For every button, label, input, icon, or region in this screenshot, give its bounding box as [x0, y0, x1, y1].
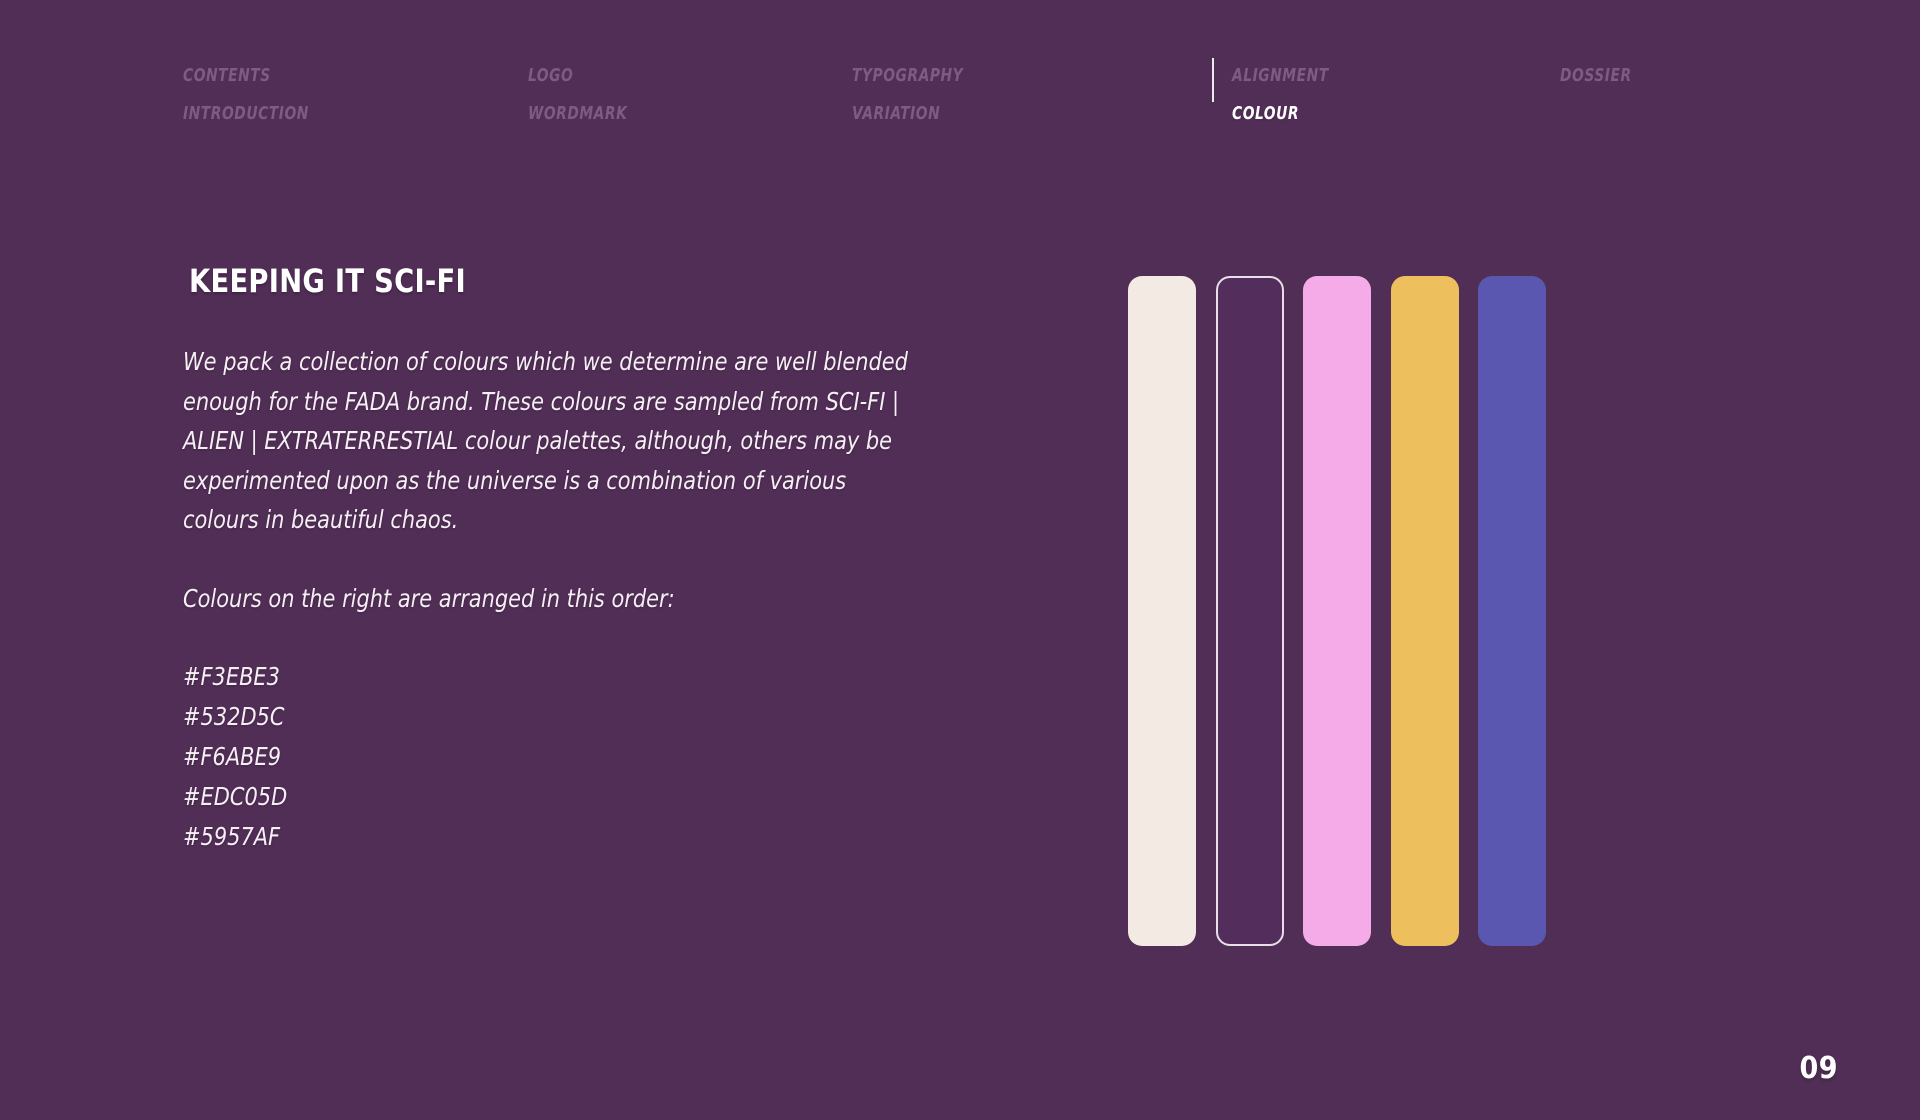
- brand-guidelines-slide: { "theme": { "background": "#512E56", "n…: [0, 0, 1920, 1120]
- swatch-cream: [1128, 276, 1196, 946]
- nav-active-section-divider: [1212, 58, 1214, 102]
- nav-item-typography[interactable]: TYPOGRAPHY: [852, 57, 963, 95]
- nav-group-logo: LOGO WORDMARK: [528, 57, 641, 133]
- nav-item-introduction[interactable]: INTRODUCTION: [183, 95, 309, 133]
- page-title: KEEPING IT SCI-FI: [189, 262, 962, 300]
- hex-code-list: #F3EBE3 #532D5C #F6ABE9 #EDC05D #5957AF: [183, 657, 1003, 857]
- swatch-yellow: [1391, 276, 1459, 946]
- swatch-pink: [1303, 276, 1371, 946]
- nav-group-typography: TYPOGRAPHY VARIATION: [852, 57, 978, 133]
- nav-group-alignment: ALIGNMENT COLOUR: [1232, 57, 1342, 133]
- nav-item-wordmark[interactable]: WORDMARK: [528, 95, 627, 133]
- hex-code-item: #F6ABE9: [183, 737, 946, 777]
- swatch-indigo: [1478, 276, 1546, 946]
- swatch-plum: [1216, 276, 1284, 946]
- hex-code-item: #F3EBE3: [183, 657, 946, 697]
- page-number: 09: [1799, 1051, 1838, 1086]
- content-column: KEEPING IT SCI-FI We pack a collection o…: [183, 262, 1003, 857]
- top-navigation: CONTENTS INTRODUCTION LOGO WORDMARK TYPO…: [0, 0, 1920, 140]
- colour-swatch-strip: [1128, 276, 1546, 946]
- hex-code-item: #EDC05D: [183, 777, 946, 817]
- hex-code-item: #5957AF: [183, 817, 946, 857]
- nav-item-alignment[interactable]: ALIGNMENT: [1232, 57, 1329, 95]
- hex-code-item: #532D5C: [183, 697, 946, 737]
- nav-item-dossier[interactable]: DOSSIER: [1560, 57, 1632, 95]
- nav-item-contents[interactable]: CONTENTS: [183, 57, 309, 95]
- nav-group-dossier: DOSSIER: [1560, 57, 1641, 95]
- nav-item-logo[interactable]: LOGO: [528, 57, 627, 95]
- description-paragraph: We pack a collection of colours which we…: [183, 342, 927, 540]
- nav-item-colour[interactable]: COLOUR: [1232, 95, 1329, 133]
- nav-group-contents: CONTENTS INTRODUCTION: [183, 57, 326, 133]
- nav-item-variation[interactable]: VARIATION: [852, 95, 963, 133]
- colour-order-note: Colours on the right are arranged in thi…: [183, 579, 946, 619]
